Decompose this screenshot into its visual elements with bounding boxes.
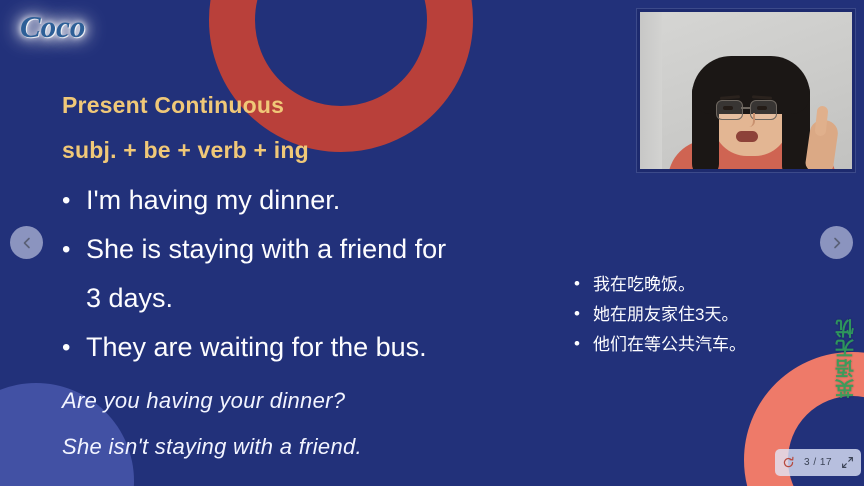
chinese-translation-list: 我在吃晚饭。 她在朋友家住3天。 他们在等公共汽车。 [572,270,746,360]
list-item: I'm having my dinner. [60,176,580,225]
watermark-text: 英语无忧 [833,318,860,398]
next-slide-button[interactable] [820,226,853,259]
italic-question: Are you having your dinner? [62,378,362,424]
list-item: She is staying with a friend for [60,225,580,274]
person-eye-left [723,106,733,110]
list-item: 他们在等公共汽车。 [572,330,746,360]
italic-negative: She isn't staying with a friend. [62,424,362,470]
page-indicator: 3 / 17 [804,457,832,468]
slide-formula: subj. + be + verb + ing [62,137,309,164]
glasses-bridge [741,107,750,109]
glasses-lens-left [716,100,743,120]
exit-fullscreen-icon[interactable] [841,456,854,469]
replay-icon[interactable] [782,456,795,469]
person-eye-right [757,106,767,110]
presentation-slide: 英语无忧 Coco Present Continuous subj. + be … [0,0,864,486]
brand-logo: Coco [14,9,95,46]
decorative-ring-top [209,0,473,152]
italic-example-list: Are you having your dinner? She isn't st… [62,378,362,470]
list-item: 她在朋友家住3天。 [572,300,746,330]
prev-slide-button[interactable] [10,226,43,259]
slide-title: Present Continuous [62,92,284,119]
list-item: 我在吃晚饭。 [572,270,746,300]
chevron-left-icon [20,236,34,250]
person-nose [744,113,755,127]
list-item: They are waiting for the bus. [60,323,580,372]
list-item-continuation: 3 days. [60,274,580,323]
person-mouth [736,131,758,142]
english-example-list: I'm having my dinner. She is staying wit… [60,176,580,372]
player-controls: 3 / 17 [775,449,861,476]
webcam-video[interactable] [637,9,855,172]
chevron-right-icon [830,236,844,250]
